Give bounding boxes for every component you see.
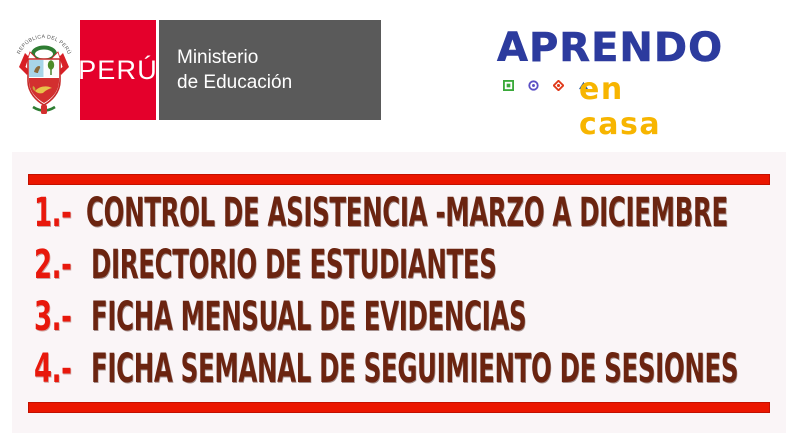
item-title: CONTROL DE ASISTENCIA -MARZO A DICIEMBRE — [86, 190, 728, 236]
agenda-panel: 1.- CONTROL DE ASISTENCIA -MARZO A DICIE… — [12, 152, 786, 433]
minedu-logo: REPÚBLICA DEL PERÚ — [8, 20, 381, 120]
item-title: DIRECTORIO DE ESTUDIANTES — [91, 242, 497, 288]
aprendo-wordmark: APRENDO — [497, 28, 712, 68]
ministry-brand-block: Ministerio de Educación — [159, 20, 381, 120]
top-divider-rule — [28, 174, 770, 185]
item-number: 4.- — [34, 346, 72, 392]
list-item[interactable]: 4.- FICHA SEMANAL DE SEGUIMIENTO DE SESI… — [34, 346, 774, 398]
agenda-items-list: 1.- CONTROL DE ASISTENCIA -MARZO A DICIE… — [34, 190, 774, 398]
circle-glyph — [528, 80, 539, 91]
item-spacer — [86, 317, 90, 335]
peru-label: PERÚ — [78, 55, 158, 86]
item-number: 3.- — [34, 294, 72, 340]
en-casa-wordmark: en casa — [579, 72, 712, 142]
item-number: 2.- — [34, 242, 72, 288]
list-item[interactable]: 3.- FICHA MENSUAL DE EVIDENCIAS — [34, 294, 774, 346]
page-header: REPÚBLICA DEL PERÚ — [0, 0, 800, 145]
peru-brand-block: PERÚ — [80, 20, 156, 120]
item-title: FICHA SEMANAL DE SEGUIMIENTO DE SESIONES — [91, 346, 738, 392]
peru-coat-of-arms-icon: REPÚBLICA DEL PERÚ — [8, 20, 80, 120]
item-spacer — [86, 369, 90, 387]
aprendo-shape-row — [503, 80, 589, 91]
svg-text:REPÚBLICA DEL PERÚ: REPÚBLICA DEL PERÚ — [16, 34, 73, 55]
list-item[interactable]: 2.- DIRECTORIO DE ESTUDIANTES — [34, 242, 774, 294]
square-glyph — [503, 80, 514, 91]
list-item[interactable]: 1.- CONTROL DE ASISTENCIA -MARZO A DICIE… — [34, 190, 774, 242]
diamond-glyph — [553, 80, 564, 91]
item-title: FICHA MENSUAL DE EVIDENCIAS — [91, 294, 526, 340]
aprendo-en-casa-logo: APRENDO en casa — [497, 28, 712, 108]
item-number: 1.- — [34, 190, 72, 236]
item-spacer — [86, 265, 90, 283]
coat-of-arms-svg: REPÚBLICA DEL PERÚ — [11, 23, 77, 117]
ministry-line-1: Ministerio — [177, 45, 381, 70]
ministry-line-2: de Educación — [177, 70, 381, 95]
bottom-divider-rule — [28, 402, 770, 413]
